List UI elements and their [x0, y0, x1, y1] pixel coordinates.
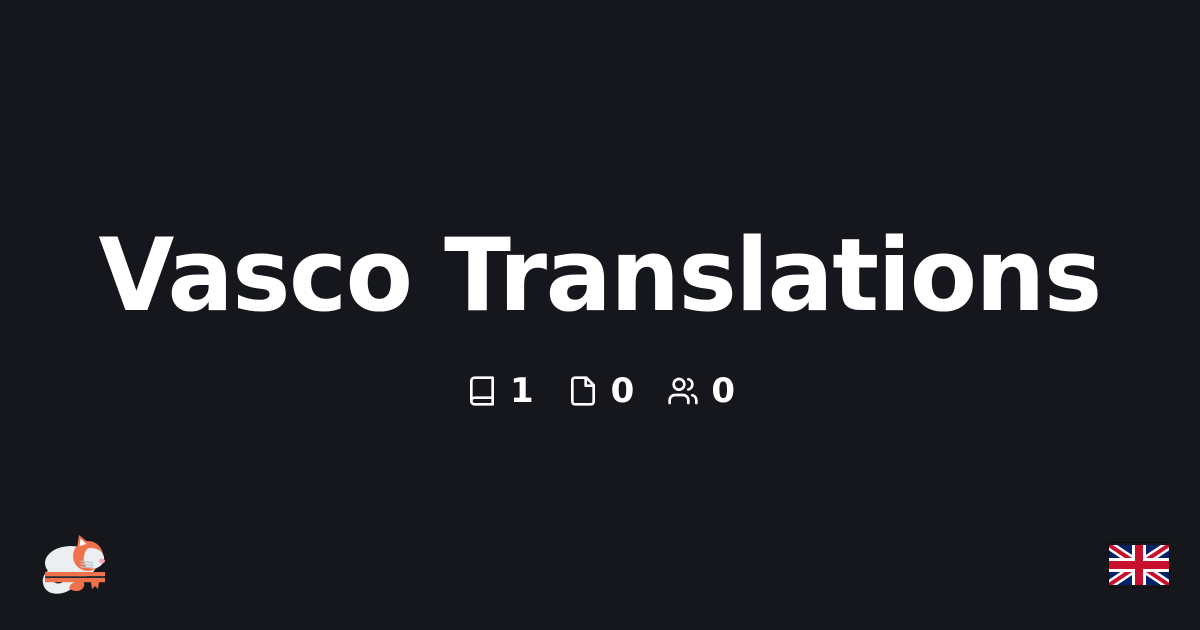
- stat-issues-value: 0: [611, 374, 635, 408]
- page-title: Vasco Translations: [99, 222, 1101, 328]
- united-kingdom-flag-icon: [1108, 542, 1170, 588]
- stat-repositories: 1: [465, 374, 534, 408]
- card-center-content: Vasco Translations 1: [0, 0, 1200, 630]
- codeberg-cat-logo: [33, 532, 113, 602]
- stats-row: 1 0: [449, 374, 751, 408]
- stat-members-value: 0: [711, 374, 735, 408]
- file-icon: [566, 374, 600, 408]
- social-preview-card: Vasco Translations 1: [0, 0, 1200, 630]
- book-icon: [465, 374, 499, 408]
- stat-issues: 0: [566, 374, 635, 408]
- users-icon: [666, 374, 700, 408]
- stat-repositories-value: 1: [510, 374, 534, 408]
- stat-members: 0: [666, 374, 735, 408]
